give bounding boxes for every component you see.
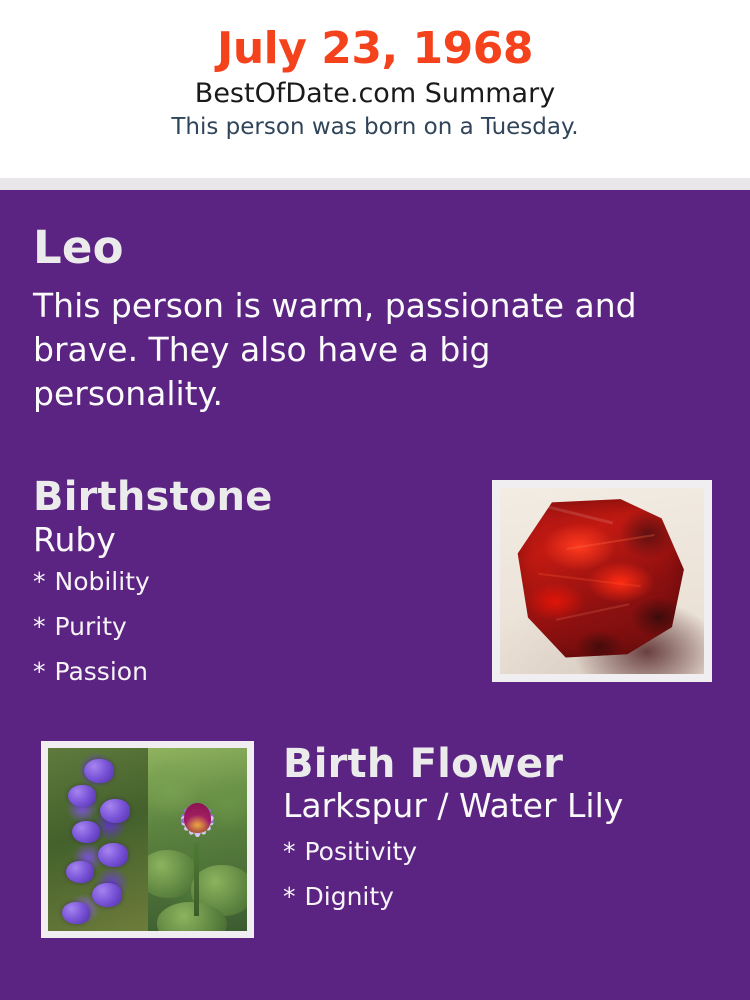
ruby-gem-shape (514, 499, 685, 659)
page-title-date: July 23, 1968 (0, 26, 750, 72)
gem-facet (536, 502, 613, 524)
zodiac-block: Leo This person is warm, passionate and … (33, 225, 713, 416)
larkspur-floret (62, 902, 90, 924)
birthstone-trait-label: Passion (55, 657, 148, 686)
asterisk-bullet-icon: * (33, 657, 46, 686)
gem-facet (556, 603, 630, 621)
birth-flower-trait-label: Positivity (305, 837, 418, 866)
larkspur-photo (48, 748, 148, 931)
birthstone-trait-label: Purity (55, 612, 127, 641)
asterisk-bullet-icon: * (33, 567, 46, 596)
lily-stem (194, 843, 199, 916)
larkspur-floret (84, 759, 114, 783)
infographic-card: July 23, 1968 BestOfDate.com Summary Thi… (0, 0, 750, 1000)
day-of-week-note: This person was born on a Tuesday. (0, 114, 750, 140)
birth-flower-block: Birth Flower Larkspur / Water Lily *Posi… (283, 743, 713, 929)
water-lily-photo (148, 748, 248, 931)
section-divider (0, 178, 750, 190)
birth-flower-trait-list: *Positivity *Dignity (283, 839, 713, 909)
site-name-subtitle: BestOfDate.com Summary (0, 78, 750, 109)
birthstone-trait-label: Nobility (55, 567, 150, 596)
asterisk-bullet-icon: * (283, 837, 296, 866)
list-item: *Purity (33, 614, 463, 639)
birthstone-block: Birthstone Ruby *Nobility *Purity *Passi… (33, 476, 463, 704)
asterisk-bullet-icon: * (283, 882, 296, 911)
larkspur-floret (92, 883, 122, 907)
list-item: *Passion (33, 659, 463, 684)
ruby-crystal-photo (500, 488, 704, 674)
gem-facet (539, 573, 641, 588)
header-section: July 23, 1968 BestOfDate.com Summary Thi… (0, 0, 750, 178)
birth-flower-name: Larkspur / Water Lily (283, 788, 713, 825)
birth-flower-heading: Birth Flower (283, 743, 713, 785)
list-item: *Positivity (283, 839, 713, 864)
list-item: *Nobility (33, 569, 463, 594)
birth-flower-trait-label: Dignity (305, 882, 394, 911)
birthstone-trait-list: *Nobility *Purity *Passion (33, 569, 463, 684)
asterisk-bullet-icon: * (33, 612, 46, 641)
zodiac-description: This person is warm, passionate and brav… (33, 284, 683, 416)
larkspur-floret (98, 843, 128, 867)
birthstone-photo-frame (492, 480, 712, 682)
larkspur-floret (66, 861, 94, 883)
birthstone-name: Ruby (33, 522, 463, 559)
birth-flower-photo-pair (48, 748, 247, 931)
zodiac-sign-name: Leo (33, 225, 713, 270)
larkspur-floret (72, 821, 100, 843)
list-item: *Dignity (283, 884, 713, 909)
lily-stamen-center (184, 803, 211, 834)
birth-flower-photo-frame (41, 741, 254, 938)
larkspur-floret (100, 799, 130, 823)
gem-facet (566, 534, 654, 550)
birthstone-heading: Birthstone (33, 476, 463, 518)
details-panel: Leo This person is warm, passionate and … (0, 190, 750, 1000)
lily-bloom (163, 785, 231, 855)
larkspur-floret (68, 785, 96, 807)
